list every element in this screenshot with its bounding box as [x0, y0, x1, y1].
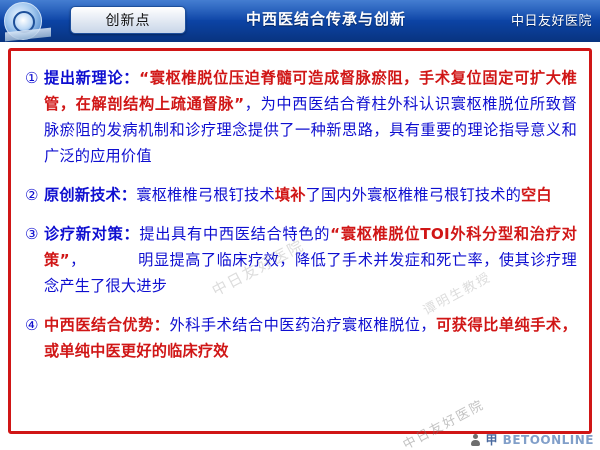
tab-innovation-points-label: 创新点 [106, 10, 151, 30]
person-icon [471, 434, 481, 446]
list-item-lead: 原创新技术： [44, 186, 136, 204]
list-item-lead: 诊疗新对策： [44, 225, 139, 243]
list-item-body: 原创新技术：寰枢椎椎弓根钉技术填补了国内外寰枢椎椎弓根钉技术的空白 [25, 182, 577, 208]
list-marker: ① [25, 65, 39, 91]
list-item-body: 提出新理论：“寰枢椎脱位压迫脊髓可造成督脉瘀阻，手术复位固定可扩大椎管，在解剖结… [25, 65, 577, 169]
emblem-band-icon [5, 28, 51, 42]
list-item-seg-red: 填补 [275, 186, 306, 204]
list-item: ① 提出新理论：“寰枢椎脱位压迫脊髓可造成督脉瘀阻，手术复位固定可扩大椎管，在解… [25, 65, 577, 169]
tab-innovation-points[interactable]: 创新点 [70, 6, 186, 34]
list-item: ④ 中西医结合优势：外科手术结合中医药治疗寰枢椎脱位，可获得比单纯手术，或单纯中… [25, 312, 577, 364]
page-title: 中西医结合传承与创新 [196, 8, 456, 29]
list-item-seg-blue: 明显提高了临床疗效，降低了手术并发症和死亡率，使其诊疗理念产生了很大进步 [44, 251, 577, 295]
list-item-seg-blue: 提出具有中西医结合特色的 [139, 225, 330, 243]
list-marker: ④ [25, 312, 39, 338]
brand-text: 甲 BETOONLINE [485, 431, 594, 448]
list-item-seg-blue: ， [70, 251, 86, 269]
list-item: ② 原创新技术：寰枢椎椎弓根钉技术填补了国内外寰枢椎椎弓根钉技术的空白 [25, 182, 577, 208]
list-item: ③ 诊疗新对策：提出具有中西医结合特色的“寰枢椎脱位TOI外科分型和治疗对策”，… [25, 221, 577, 299]
list-item-seg-blue: 了国内外寰枢椎椎弓根钉技术的 [306, 186, 521, 204]
hospital-name: 中日友好医院 [511, 10, 592, 29]
list-item-body: 诊疗新对策：提出具有中西医结合特色的“寰枢椎脱位TOI外科分型和治疗对策”，明显… [25, 221, 577, 299]
list-marker: ③ [25, 221, 39, 247]
list-item-lead: 提出新理论： [44, 69, 139, 87]
content-frame: ① 提出新理论：“寰枢椎脱位压迫脊髓可造成督脉瘀阻，手术复位固定可扩大椎管，在解… [8, 48, 592, 434]
brand-text-1: 甲 [485, 433, 498, 447]
list-item-seg-blue: 外科手术结合中医药治疗寰枢椎脱位， [169, 316, 436, 334]
slide: 创新点 中西医结合传承与创新 中日友好医院 ① 提出新理论：“寰枢椎脱位压迫脊髓… [0, 0, 600, 450]
list-item-body: 中西医结合优势：外科手术结合中医药治疗寰枢椎脱位，可获得比单纯手术，或单纯中医更… [25, 312, 577, 364]
brand-text-2: BETOONLINE [503, 433, 594, 447]
list-item-lead: 中西医结合优势： [44, 316, 169, 334]
hospital-emblem-icon [4, 2, 42, 40]
header-bar: 创新点 中西医结合传承与创新 中日友好医院 [0, 0, 600, 42]
list-marker: ② [25, 182, 39, 208]
list-item-seg-blue: 寰枢椎椎弓根钉技术 [136, 186, 275, 204]
list-item-seg-red: 空白 [521, 186, 552, 204]
brand-mark: 甲 BETOONLINE [471, 431, 594, 448]
